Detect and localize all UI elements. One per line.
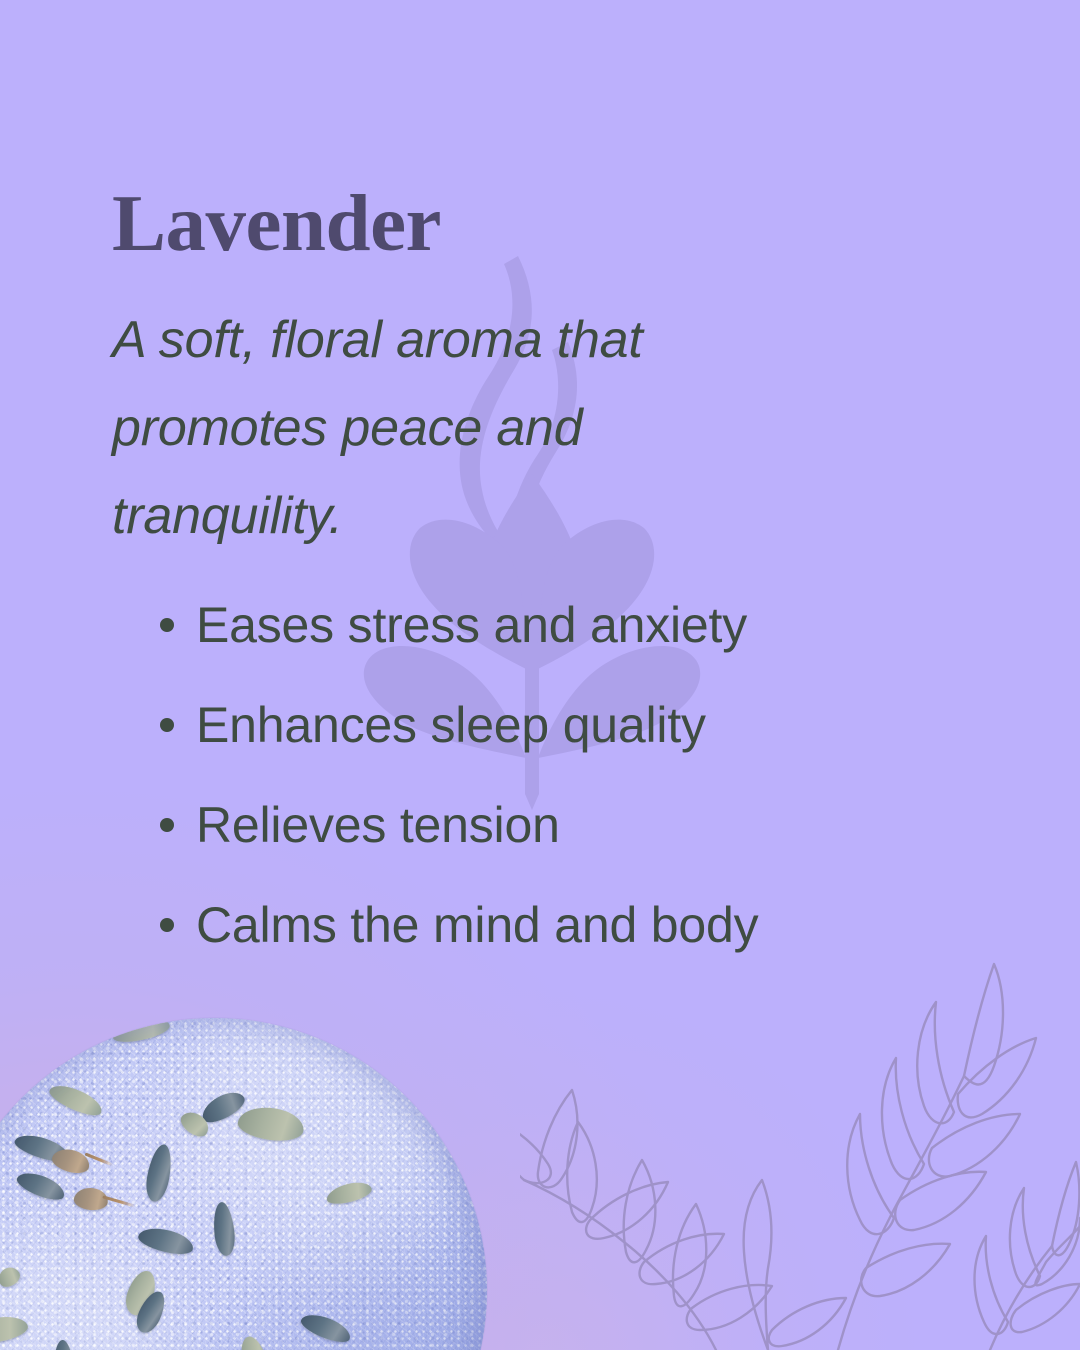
list-item: Eases stress and anxiety (160, 575, 758, 675)
bullet-dot-icon (160, 918, 174, 932)
list-item: Calms the mind and body (160, 875, 758, 975)
bullet-dot-icon (160, 818, 174, 832)
page-title: Lavender (112, 183, 441, 264)
benefit-label: Calms the mind and body (196, 900, 758, 950)
lavender-product-poster: Lavender A soft, floral aroma that promo… (0, 0, 1080, 1350)
list-item: Enhances sleep quality (160, 675, 758, 775)
bullet-dot-icon (160, 618, 174, 632)
list-item: Relieves tension (160, 775, 758, 875)
bullet-dot-icon (160, 718, 174, 732)
benefit-label: Enhances sleep quality (196, 700, 706, 750)
page-subtitle: A soft, floral aroma that promotes peace… (112, 296, 812, 560)
benefits-list: Eases stress and anxiety Enhances sleep … (160, 575, 758, 975)
benefit-label: Relieves tension (196, 800, 560, 850)
benefit-label: Eases stress and anxiety (196, 600, 747, 650)
